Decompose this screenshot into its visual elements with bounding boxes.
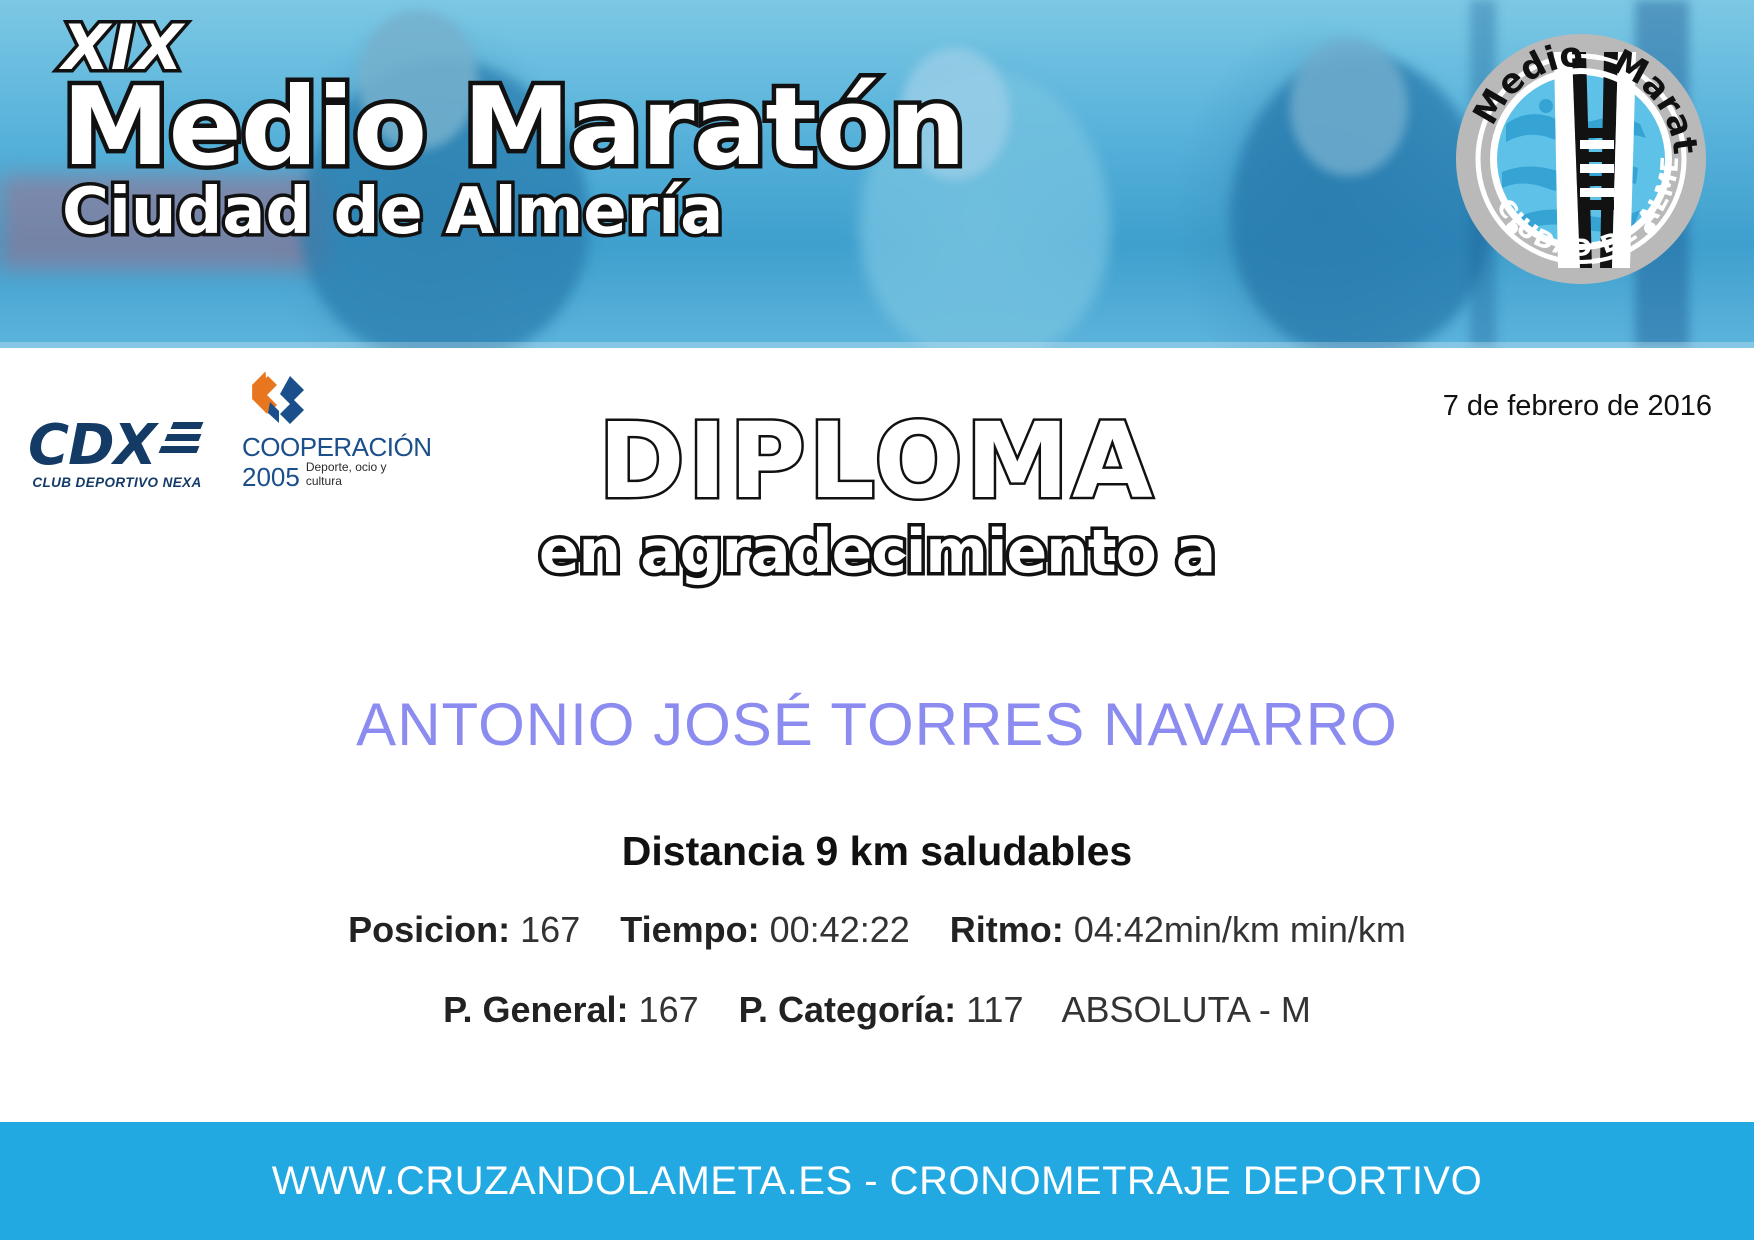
ritmo-label: Ritmo: bbox=[950, 909, 1064, 950]
sponsor-logos: CDX CLUB DEPORTIVO NEXA COOPERACIÓN 2005… bbox=[28, 368, 406, 490]
banner-title-group: XIX Medio Maratón Ciudad de Almería bbox=[62, 18, 965, 246]
p-categoria-label: P. Categoría: bbox=[739, 989, 956, 1030]
posicion-label: Posicion: bbox=[348, 909, 510, 950]
results-block: Distancia 9 km saludables Posicion: 167 … bbox=[0, 828, 1754, 1031]
tiempo-label: Tiempo: bbox=[620, 909, 759, 950]
cooperacion-logo: COOPERACIÓN 2005 Deporte, ocio y cultura bbox=[242, 368, 406, 490]
tiempo-value: 00:42:22 bbox=[770, 909, 910, 950]
event-badge-logo: Medio Maratón CIUDAD DE ALMERÍA bbox=[1454, 32, 1708, 286]
event-date: 7 de febrero de 2016 bbox=[1443, 390, 1712, 423]
header-banner: XIX Medio Maratón Ciudad de Almería bbox=[0, 0, 1754, 348]
posicion-value: 167 bbox=[520, 909, 580, 950]
cdx-caption: CLUB DEPORTIVO NEXA bbox=[28, 475, 206, 490]
footer-website: WWW.CRUZANDOLAMETA.ES - CRONOMETRAJE DEP… bbox=[272, 1159, 1482, 1204]
runner-head-right bbox=[1290, 38, 1408, 176]
cooperacion-tagline: Deporte, ocio y cultura bbox=[306, 460, 406, 490]
diploma-subtitle: en agradecimiento a bbox=[0, 519, 1754, 585]
cdx-speed-lines-icon bbox=[156, 422, 202, 456]
p-general-value: 167 bbox=[639, 989, 699, 1030]
cooperacion-name: COOPERACIÓN bbox=[242, 434, 406, 460]
banner-bottom-edge bbox=[0, 342, 1754, 348]
ritmo-value: 04:42min/km min/km bbox=[1074, 909, 1406, 950]
p-categoria-value: 117 bbox=[966, 989, 1023, 1030]
cooperacion-diamond-icon bbox=[248, 368, 310, 430]
result-row-secondary: P. General: 167 P. Categoría: 117 ABSOLU… bbox=[0, 989, 1754, 1031]
cdx-logo: CDX CLUB DEPORTIVO NEXA bbox=[28, 418, 206, 490]
athlete-name: ANTONIO JOSÉ TORRES NAVARRO bbox=[0, 690, 1754, 759]
cooperacion-year: 2005 bbox=[242, 464, 300, 490]
event-title: Medio Maratón bbox=[62, 73, 965, 183]
diploma-certificate: XIX Medio Maratón Ciudad de Almería bbox=[0, 0, 1754, 1240]
footer-bar: WWW.CRUZANDOLAMETA.ES - CRONOMETRAJE DEP… bbox=[0, 1122, 1754, 1240]
result-row-primary: Posicion: 167 Tiempo: 00:42:22 Ritmo: 04… bbox=[0, 909, 1754, 951]
p-general-label: P. General: bbox=[443, 989, 628, 1030]
categoria-value: ABSOLUTA - M bbox=[1062, 989, 1311, 1030]
result-distance: Distancia 9 km saludables bbox=[0, 828, 1754, 875]
